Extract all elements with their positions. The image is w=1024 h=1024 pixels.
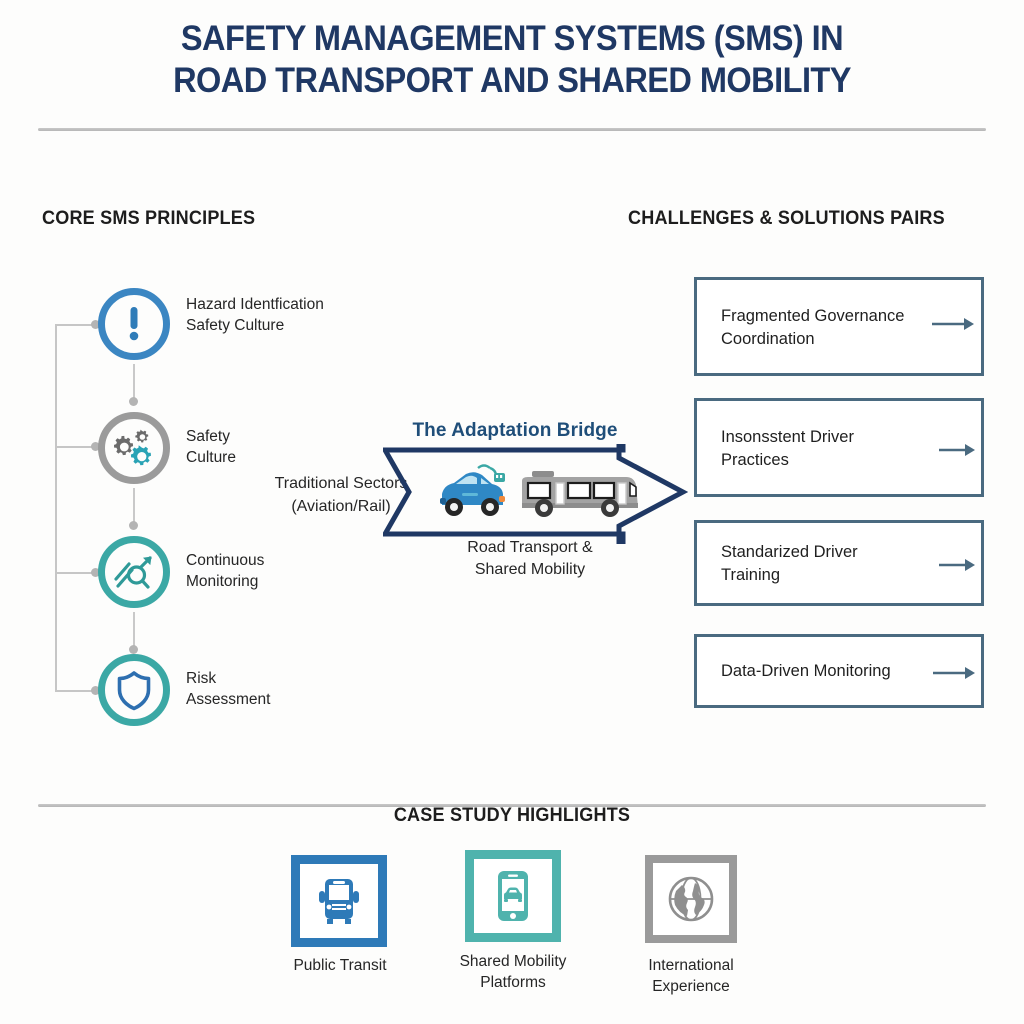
bus-icon [522,471,638,517]
smartphone-car-icon [493,869,533,923]
principle-link-dot-2-3 [129,521,138,530]
principle-label-2-line-2: Culture [186,447,376,468]
page-title-line-1: SAFETY MANAGEMENT SYSTEMS (SMS) IN [36,18,988,60]
bridge-bottom-label-line-2: Shared Mobility [420,559,640,581]
principle-label-2: Safety Culture [186,426,376,468]
principle-label-1-line-2: Safety Culture [186,315,376,336]
principle-link-dot-3-4 [129,645,138,654]
challenge-box-1-line-1: Fragmented Governance [721,305,936,328]
principle-label-4: Risk Assessment [186,668,376,710]
case-study-label-2-line-1: Shared Mobility [438,951,588,972]
challenge-box-3-arrow-icon [937,556,977,572]
bus-front-icon [316,876,362,926]
challenge-box-1-line-2: Coordination [721,328,936,351]
magnifier-trend-icon [111,551,157,593]
challenge-box-4-line-1: Data-Driven Monitoring [721,660,951,683]
principle-link-1-2 [133,364,135,398]
case-study-label-public-transit: Public Transit [265,955,415,976]
principle-branch-1 [55,324,95,326]
page-title: SAFETY MANAGEMENT SYSTEMS (SMS) IN ROAD … [36,18,988,102]
challenge-box-3[interactable]: Standarized Driver Training [694,520,984,606]
principles-spine [55,324,57,692]
challenge-box-3-line-1: Standarized Driver [721,541,936,564]
principle-label-3: Continuous Monitoring [186,550,376,592]
challenge-box-1[interactable]: Fragmented Governance Coordination [694,277,984,376]
right-section-heading: CHALLENGES & SOLUTIONS PAIRS [628,208,945,230]
left-section-heading: CORE SMS PRINCIPLES [42,208,255,230]
challenge-box-4-text: Data-Driven Monitoring [721,660,951,683]
principle-icon-safety-culture[interactable] [98,412,170,484]
case-study-label-3-line-2: Experience [616,976,766,997]
bridge-vehicles [432,463,647,525]
header-divider [38,128,986,131]
challenge-box-2-text: Insonsstent Driver Practices [721,426,936,472]
principle-branch-2 [55,446,95,448]
principle-icon-hazard-identification[interactable] [98,288,170,360]
challenge-box-1-text: Fragmented Governance Coordination [721,305,936,351]
case-study-heading: CASE STUDY HIGHLIGHTS [26,805,999,827]
challenge-box-4[interactable]: Data-Driven Monitoring [694,634,984,708]
infographic-page: SAFETY MANAGEMENT SYSTEMS (SMS) IN ROAD … [0,0,1024,1024]
principle-label-4-line-2: Assessment [186,689,376,710]
principle-branch-4 [55,690,95,692]
principle-link-2-3 [133,488,135,522]
case-study-label-international: International Experience [616,955,766,997]
principle-icon-continuous-monitoring[interactable] [98,536,170,608]
challenge-box-3-text: Standarized Driver Training [721,541,936,587]
principle-label-4-line-1: Risk [186,668,376,689]
principle-label-2-line-1: Safety [186,426,376,447]
challenge-box-3-line-2: Training [721,564,936,587]
bridge-title: The Adaptation Bridge [350,420,680,442]
principle-branch-3 [55,572,95,574]
principle-icon-risk-assessment[interactable] [98,654,170,726]
challenge-box-1-arrow-icon [930,315,976,331]
case-study-label-3-line-1: International [616,955,766,976]
challenge-box-4-arrow-icon [931,664,977,680]
case-study-label-shared-mobility: Shared Mobility Platforms [438,951,588,993]
page-title-line-2: ROAD TRANSPORT AND SHARED MOBILITY [36,60,988,102]
principle-link-3-4 [133,612,135,646]
case-study-tile-international[interactable] [645,855,737,943]
case-study-label-1-line-1: Public Transit [265,955,415,976]
principle-label-3-line-2: Monitoring [186,571,376,592]
case-study-label-2-line-2: Platforms [438,972,588,993]
principle-link-dot-1-2 [129,397,138,406]
case-study-tile-public-transit[interactable] [291,855,387,947]
principle-label-3-line-1: Continuous [186,550,376,571]
gears-icon [111,428,157,468]
electric-car-icon [440,466,505,517]
challenge-box-2-line-2: Practices [721,449,936,472]
challenge-box-2-line-1: Insonsstent Driver [721,426,936,449]
challenge-box-2[interactable]: Insonsstent Driver Practices [694,398,984,497]
globe-icon [666,874,716,924]
exclamation-icon [116,303,152,345]
principle-label-1-line-1: Hazard Identfication [186,294,376,315]
case-study-tile-shared-mobility[interactable] [465,850,561,942]
shield-icon [115,669,153,711]
challenge-box-2-arrow-icon [937,441,977,457]
principle-label-1: Hazard Identfication Safety Culture [186,294,376,336]
